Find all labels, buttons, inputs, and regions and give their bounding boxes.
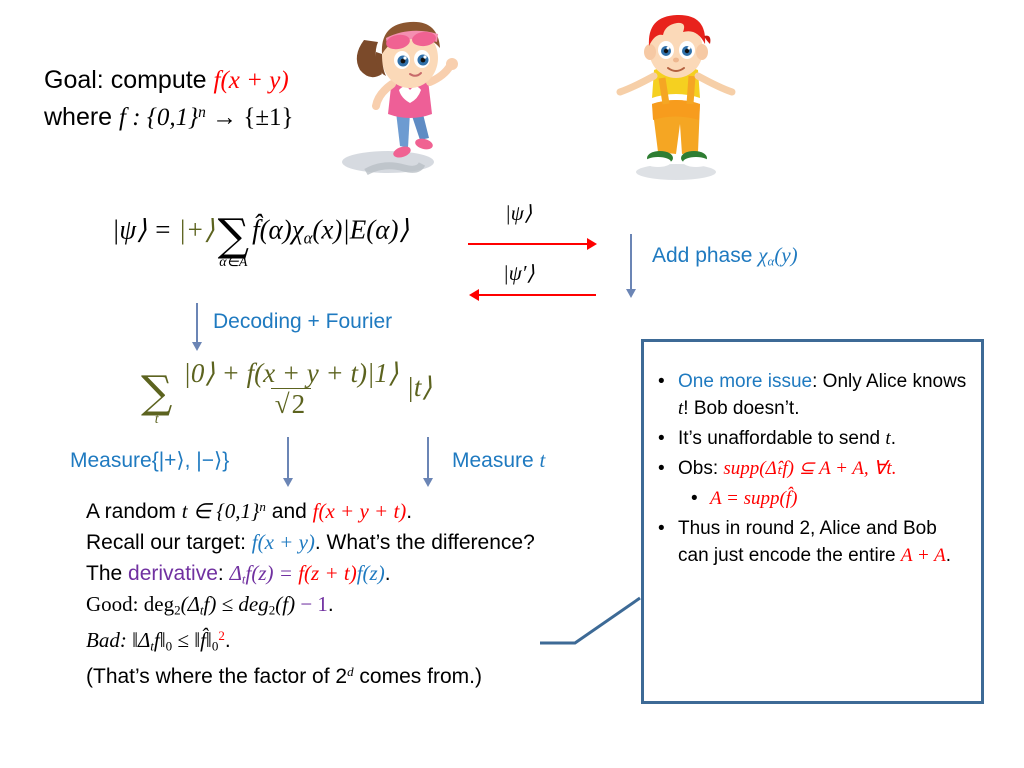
prose-l6-b: comes from.) [354,665,482,688]
summation-alpha-symbol: ∑ [218,214,249,258]
arrow-psi-to-bob [468,243,588,245]
alice-girl-character [336,4,476,184]
arrow-psiprime-to-alice [478,294,596,296]
goal-line-2-tail: → {±1} [206,104,294,131]
bob-boy-character [608,6,748,186]
prose-l5-d: . [225,629,231,652]
goal-line-1-math: f(x + y) [214,67,289,94]
decoding-fourier-label: Decoding + Fourier [213,310,392,334]
summation-t-limit: t [155,413,159,427]
equation-sum-t: ∑t|0⟩ + f(x + y + t)|1⟩√2|t⟩ [138,358,432,427]
add-phase-tail: (y) [774,243,797,267]
arrow-add-phase [630,234,632,290]
callout-list: One more issue: Only Alice knows t! Bob … [644,342,981,569]
callout-item-part: A + A [901,545,946,566]
prose-l4-d: (f) [275,592,300,616]
fraction-numerator: |0⟩ + f(x + y + t)|1⟩ [179,358,402,388]
callout-item-part: . [891,428,896,449]
equation-psi-body: f̂(α)χ [252,215,304,245]
goal-line-2-superscript: n [198,104,206,121]
equation-psi-lhs: |ψ⟩ = [112,215,178,245]
prose-l3-c: . [385,562,391,585]
prose-l2-blue: f(x + y) [252,530,315,554]
equation-sum-tail: |t⟩ [406,372,431,402]
measure-t-math: t [540,448,546,472]
summation-alpha: ∑α∈A [218,214,249,270]
prose-l1-red: f(x + y + t) [313,499,407,523]
summation-t: ∑t [141,371,172,427]
prose-l4-purple: − 1 [300,592,328,616]
prose-l2-b: . What’s the difference? [315,531,535,554]
prose-line-6: (That’s where the factor of 2d comes fro… [86,661,535,692]
arrow-measure-basis [287,437,289,479]
arrow-measure-t [427,437,429,479]
prose-l1-b: t ∈ {0,1} [182,499,260,523]
callout-item-part: A = supp(f̂) [710,488,797,509]
radical-value: 2 [290,388,308,419]
callout-item: Thus in round 2, Alice and Bob can just … [678,515,971,569]
prose-l3-red: f(z + t) [298,561,357,585]
callout-item-part: . [946,545,951,566]
fraction-denominator: √2 [271,388,311,419]
radical-sign: √ [275,389,290,419]
goal-line-2: where f : {0,1}n → {±1} [44,99,294,136]
callout-item-part: : Only Alice knows [812,371,966,392]
prose-l3-a: The [86,562,128,585]
prose-l1-c: and [266,500,313,523]
prose-line-1: A random t ∈ {0,1}n and f(x + y + t). [86,496,535,527]
arrow-decoding-fourier [196,303,198,343]
prose-l3-purple-math2: f(z) = [246,561,299,585]
arrow-top-state-label: |ψ⟩ [505,201,532,226]
callout-item-part: Obs: [678,458,723,479]
arrow-bottom-state-label: |ψ′⟩ [503,261,535,286]
prose-l5-c: ≤ ‖f̂‖ [172,628,212,652]
prose-l5-b: f‖ [154,628,166,652]
prose-l5-a: Bad: ‖Δ [86,628,150,652]
goal-line-2-math: f : {0,1} [119,104,198,131]
callout-item-part: ! Bob doesn’t. [683,398,799,419]
summation-alpha-limit: α∈A [219,256,247,270]
prose-l3-purple-math: Δ [230,561,242,585]
callout-connector-line [540,596,650,666]
prose-line-3: The derivative: Δtf(z) = f(z + t)f(z). [86,558,535,589]
add-phase-label: Add phase χα(y) [652,243,798,268]
equation-psi: |ψ⟩ = |+⟩∑α∈Af̂(α)χα(x)|E(α)⟩ [112,214,409,270]
add-phase-math: χ [758,243,767,267]
callout-item-part: It’s unaffordable to send [678,428,885,449]
prose-l4-e: . [328,593,334,616]
prose-l4-c: f) ≤ deg [204,592,269,616]
summation-t-symbol: ∑ [141,371,172,415]
callout-box: One more issue: Only Alice knows t! Bob … [641,339,984,704]
callout-item: It’s unaffordable to send t. [678,425,971,452]
goal-line-2-prefix: where [44,103,119,131]
prose-l3-b: : [218,562,230,585]
goal-line-1: Goal: compute f(x + y) [44,62,294,99]
prose-l3-blue: f(z) [357,561,385,585]
callout-item-part: One more issue [678,371,812,392]
prose-l3-derivative-word: derivative [128,562,218,585]
goal-statement: Goal: compute f(x + y) where f : {0,1}n … [44,62,294,136]
prose-line-4: Good: deg2(Δtf) ≤ deg2(f) − 1. [86,589,535,620]
prose-l1-a: A random [86,500,182,523]
prose-l4-a: Good: deg [86,592,174,616]
callout-item-part: Thus in round 2, Alice and Bob can just … [678,518,937,566]
callout-item: Obs: supp(Δ̂ₜf) ⊆ A + A, ∀t. [678,455,971,482]
measure-basis-label: Measure{|+⟩, |−⟩} [70,448,229,473]
goal-line-1-prefix: Goal: compute [44,66,214,94]
prose-l2-a: Recall our target: [86,531,252,554]
prose-l6-a: (That’s where the factor of 2 [86,665,347,688]
measure-t-label: Measure t [452,448,545,473]
add-phase-prefix: Add phase [652,244,758,267]
equation-psi-body-tail: (x)|E(α)⟩ [312,215,409,245]
callout-item-part: supp(Δ̂ₜf) ⊆ A + A, ∀t. [723,458,896,479]
callout-item: One more issue: Only Alice knows t! Bob … [678,368,971,422]
measure-t-prefix: Measure [452,449,540,472]
prose-line-2: Recall our target: f(x + y). What’s the … [86,527,535,558]
callout-item: A = supp(f̂) [710,485,971,512]
prose-l1-d: . [406,500,412,523]
fraction: |0⟩ + f(x + y + t)|1⟩√2 [179,358,402,419]
prose-l4-b: (Δ [181,592,200,616]
equation-psi-plus-state: |+⟩ [178,215,214,245]
prose-line-5: Bad: ‖Δtf‖0 ≤ ‖f̂‖02. [86,620,535,661]
prose-block: A random t ∈ {0,1}n and f(x + y + t). Re… [86,496,535,692]
